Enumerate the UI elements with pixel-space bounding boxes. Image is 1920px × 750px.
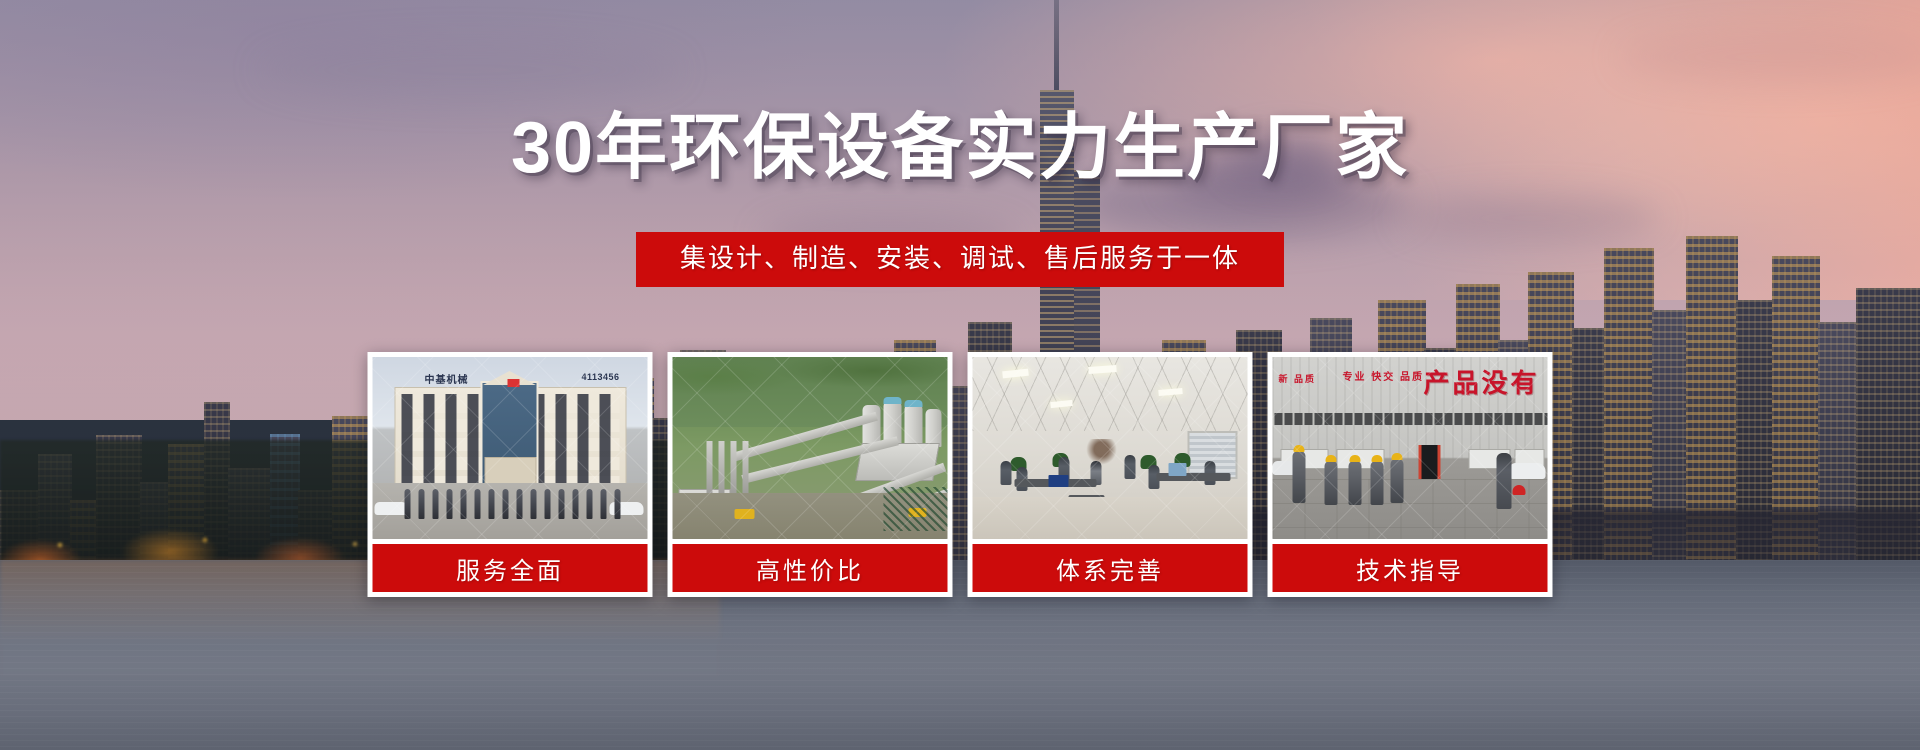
laptop-icon	[1049, 475, 1069, 487]
worker-with-helmet	[1391, 459, 1404, 503]
workers-training-photo: 产品没有 新 品质 专业 快交 品质	[1273, 357, 1548, 539]
banner-subtitle-bar: 集设计、制造、安装、调试、售后服务于一体	[636, 232, 1284, 287]
banner-headline: 30年环保设备实力生产厂家	[511, 112, 1409, 184]
feature-card-guidance[interactable]: 产品没有 新 品质 专业 快交 品质	[1268, 352, 1553, 597]
feature-card-row: 中基机械 4113456 服务全面	[368, 352, 1553, 597]
banner-subtitle: 集设计、制造、安装、调试、售后服务于一体	[680, 243, 1240, 273]
feature-card-value[interactable]: 高性价比	[668, 352, 953, 597]
feature-card-caption-text: 高性价比	[756, 551, 864, 586]
worker-with-helmet	[1293, 451, 1306, 503]
red-helmet-icon	[1513, 485, 1526, 495]
worker-with-helmet	[1325, 461, 1338, 505]
facade-slogan-left: 新 品质	[1279, 373, 1317, 386]
facade-band	[1273, 413, 1548, 425]
covered-stockpile	[884, 487, 948, 531]
silo-cap	[905, 400, 923, 407]
office-worker	[1001, 461, 1012, 485]
parked-car	[375, 502, 409, 515]
feature-card-caption-text: 体系完善	[1056, 551, 1164, 586]
office-worker	[1125, 455, 1136, 479]
worker-with-helmet	[1349, 461, 1362, 505]
silo	[926, 409, 942, 447]
preheater-stack	[731, 441, 737, 493]
preheater-stack	[719, 441, 725, 493]
feature-card-caption: 高性价比	[673, 544, 948, 592]
photo-phone-text: 4113456	[581, 372, 619, 382]
feature-card-caption-text: 技术指导	[1356, 551, 1464, 586]
monitor-icon	[1169, 463, 1187, 476]
feature-card-caption: 体系完善	[973, 544, 1248, 592]
photo-logo-text: 中基机械	[425, 371, 469, 386]
office-floor	[973, 497, 1248, 539]
banner-content: 30年环保设备实力生产厂家 集设计、制造、安装、调试、售后服务于一体 中基机械 …	[0, 0, 1920, 750]
parked-car	[1510, 463, 1546, 479]
silo-cap	[884, 397, 902, 404]
loader-vehicle	[735, 509, 755, 519]
feature-card-system[interactable]: 体系完善	[968, 352, 1253, 597]
company-building-photo: 中基机械 4113456	[373, 357, 648, 539]
wall-emblem	[1083, 439, 1121, 465]
preheater-stack	[707, 441, 713, 493]
feature-card-caption: 技术指导	[1273, 544, 1548, 592]
office-interior-photo	[973, 357, 1248, 539]
facade-main-slogan: 产品没有	[1423, 363, 1539, 400]
feature-card-caption-text: 服务全面	[456, 551, 564, 586]
facade-slogan-mid: 专业 快交 品质	[1343, 371, 1425, 385]
silo	[905, 404, 923, 447]
feature-card-service[interactable]: 中基机械 4113456 服务全面	[368, 352, 653, 597]
hero-banner: 30年环保设备实力生产厂家 集设计、制造、安装、调试、售后服务于一体 中基机械 …	[0, 0, 1920, 750]
worker-with-helmet	[1371, 461, 1384, 505]
staff-lineup	[405, 489, 621, 523]
supervisor	[1497, 453, 1512, 509]
factory-door	[1419, 445, 1441, 479]
flag-icon	[508, 379, 520, 387]
feature-card-caption: 服务全面	[373, 544, 648, 592]
preheater-stack	[743, 441, 749, 493]
aerial-plant-photo	[673, 357, 948, 539]
